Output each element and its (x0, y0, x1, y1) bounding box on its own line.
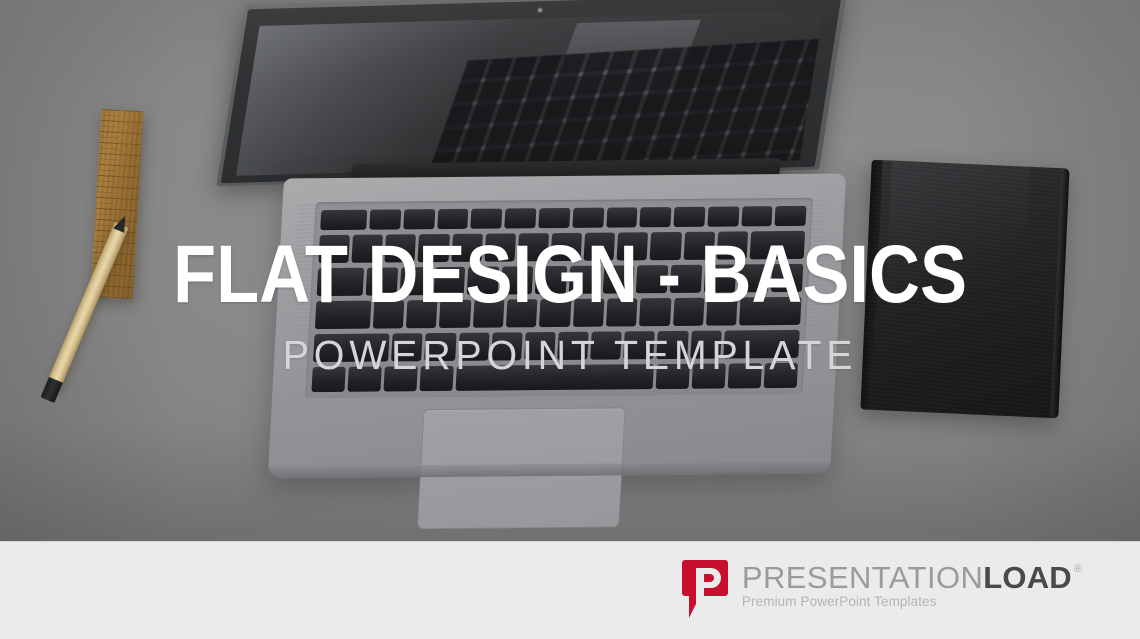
logo-word-presentation: PRESENTATION (742, 562, 983, 593)
registered-trademark-icon: ® (1074, 564, 1082, 575)
page-title: FLAT DESIGN - BASICS (80, 232, 1060, 318)
page-subtitle: POWERPOINT TEMPLATE (23, 332, 1117, 378)
title-slide: FLAT DESIGN - BASICS POWERPOINT TEMPLATE… (0, 0, 1140, 639)
speech-bubble-p-icon (682, 560, 728, 618)
presentationload-logo[interactable]: PRESENTATION LOAD ® Premium PowerPoint T… (682, 560, 1082, 618)
title-block: FLAT DESIGN - BASICS POWERPOINT TEMPLATE (0, 232, 1140, 378)
hero-photo: FLAT DESIGN - BASICS POWERPOINT TEMPLATE (0, 0, 1140, 541)
logo-word-row: PRESENTATION LOAD ® (742, 562, 1082, 593)
laptop-screen (236, 10, 823, 176)
footer-bar: PRESENTATION LOAD ® Premium PowerPoint T… (0, 541, 1140, 639)
webcam-icon (537, 8, 542, 12)
keyboard-row-function (320, 206, 806, 230)
laptop-front-edge (268, 462, 831, 479)
logo-tagline: Premium PowerPoint Templates (742, 594, 937, 609)
laptop-screen-bezel (221, 0, 842, 183)
logo-wordmark: PRESENTATION LOAD ® Premium PowerPoint T… (742, 560, 1082, 611)
logo-word-load: LOAD (983, 562, 1072, 593)
